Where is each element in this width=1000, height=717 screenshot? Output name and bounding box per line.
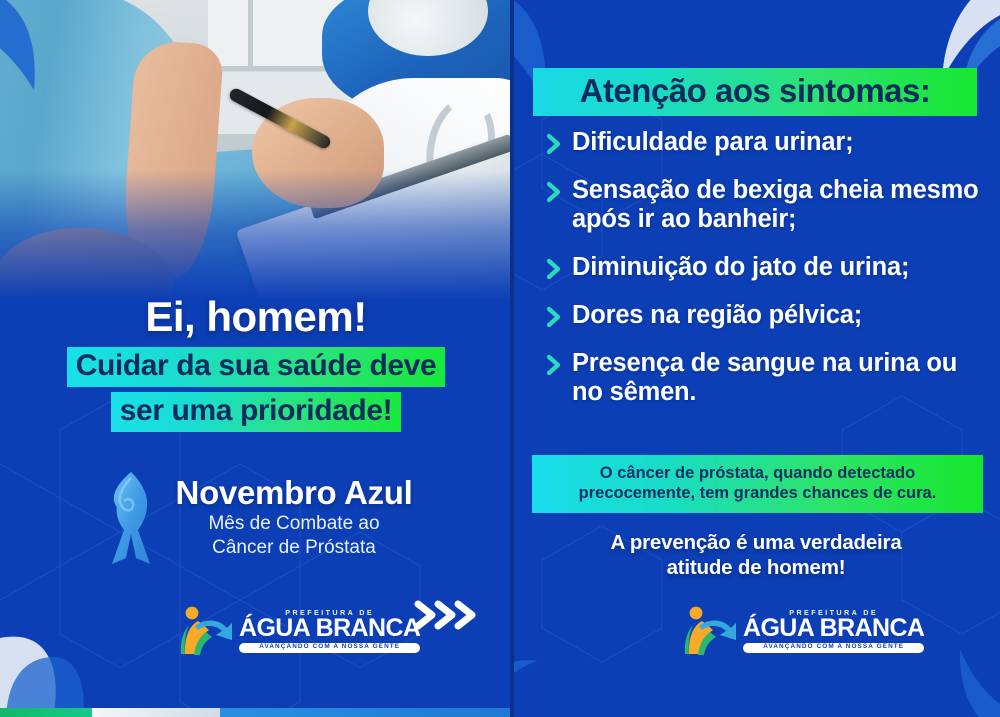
logo-wordmark: PREFEITURA DE ÁGUA BRANCA AVANÇANDO COM … — [743, 609, 924, 653]
agua-branca-figure-arrow-logo-icon — [682, 604, 738, 658]
left-panel: Ei, homem! Cuidar da sua saúde deve ser … — [0, 0, 512, 717]
chevron-right-icon — [546, 354, 562, 376]
bottom-strip-green — [0, 708, 92, 717]
symptom-text: Sensação de bexiga cheia mesmo após ir a… — [572, 176, 986, 234]
symptom-text: Dores na região pélvica; — [572, 301, 862, 330]
panel-divider — [510, 0, 514, 717]
symptom-text: Dificuldade para urinar; — [572, 128, 853, 157]
headline-ei-homem: Ei, homem! — [0, 296, 512, 338]
chevron-right-icon — [546, 258, 562, 280]
logo-name: ÁGUA BRANCA — [239, 617, 420, 641]
triple-chevron-right-icon — [412, 596, 480, 634]
logo-wordmark: PREFEITURA DE ÁGUA BRANCA AVANÇANDO COM … — [239, 609, 420, 653]
agua-branca-figure-arrow-logo-icon — [178, 604, 234, 658]
callout-line-2: precocemente, tem grandes chances de cur… — [542, 483, 973, 503]
logo-tagline: AVANÇANDO COM A NOSSA GENTE — [743, 643, 924, 653]
campaign-text: Novembro Azul Mês de Combate ao Câncer d… — [176, 476, 413, 559]
campaign-subtitle-line-2: Câncer de Próstata — [176, 537, 413, 559]
prevention-callout: O câncer de próstata, quando detectado p… — [532, 455, 983, 513]
list-item: Dificuldade para urinar; — [546, 128, 986, 157]
symptom-text: Presença de sangue na urina ou no sêmen. — [572, 349, 986, 407]
list-item: Presença de sangue na urina ou no sêmen. — [546, 349, 986, 407]
bottom-strip-blue — [220, 708, 512, 717]
campaign-title: Novembro Azul — [176, 476, 413, 510]
chevron-right-icon — [546, 181, 562, 203]
chevron-right-icon — [546, 133, 562, 155]
right-panel: Atenção aos sintomas: Dificuldade para u… — [512, 0, 1000, 717]
symptom-text: Diminuição do jato de urina; — [572, 253, 909, 282]
symptoms-heading: Atenção aos sintomas: — [533, 68, 977, 116]
bottom-strip-white — [92, 708, 220, 717]
campaign-poster: Ei, homem! Cuidar da sua saúde deve ser … — [0, 0, 1000, 717]
campaign-block: Novembro Azul Mês de Combate ao Câncer d… — [0, 468, 512, 568]
highlight-text-2: ser uma prioridade! — [111, 392, 401, 432]
closing-line-2: atitude de homem! — [512, 555, 1000, 580]
campaign-subtitle-line-1: Mês de Combate ao — [176, 513, 413, 535]
logo-tagline: AVANÇANDO COM A NOSSA GENTE — [239, 643, 420, 653]
bottom-left-swoosh-decoration — [0, 603, 116, 717]
highlight-row-2: ser uma prioridade! — [0, 392, 512, 432]
prefeitura-logo-left: PREFEITURA DE ÁGUA BRANCA AVANÇANDO COM … — [178, 604, 420, 658]
symptoms-list: Dificuldade para urinar; Sensação de bex… — [546, 128, 986, 426]
closing-message: A prevenção é uma verdadeira atitude de … — [512, 530, 1000, 580]
right-panel-content: Atenção aos sintomas: Dificuldade para u… — [512, 0, 1000, 717]
highlight-row-1: Cuidar da sua saúde deve — [0, 347, 512, 387]
callout-line-1: O câncer de próstata, quando detectado — [542, 463, 973, 483]
closing-line-1: A prevenção é uma verdadeira — [512, 530, 1000, 555]
consultation-photo — [0, 0, 512, 300]
logo-name: ÁGUA BRANCA — [743, 617, 924, 641]
awareness-ribbon-icon — [100, 468, 162, 568]
prefeitura-logo-right: PREFEITURA DE ÁGUA BRANCA AVANÇANDO COM … — [682, 604, 924, 658]
list-item: Diminuição do jato de urina; — [546, 253, 986, 282]
left-panel-content: Ei, homem! Cuidar da sua saúde deve ser … — [0, 296, 512, 568]
highlight-text-1: Cuidar da sua saúde deve — [67, 347, 446, 387]
list-item: Sensação de bexiga cheia mesmo após ir a… — [546, 176, 986, 234]
list-item: Dores na região pélvica; — [546, 301, 986, 330]
chevron-right-icon — [546, 306, 562, 328]
